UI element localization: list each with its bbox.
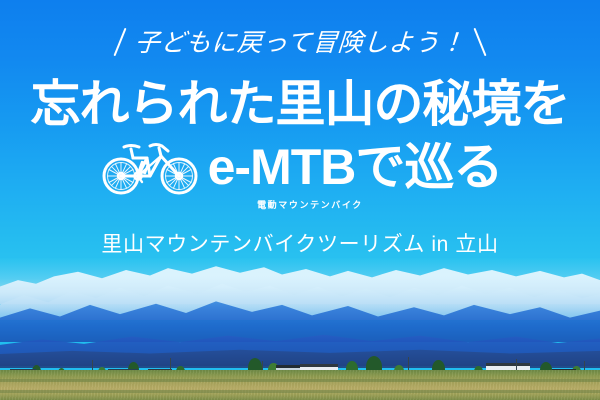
promo-banner: 子どもに戻って冒険しよう！ 忘れられた里山の秘境を: [0, 0, 600, 400]
headline-line-2: e-MTBで巡る: [208, 141, 503, 193]
banner-subtitle: 里山マウンテンバイクツーリズム in 立山: [0, 228, 600, 258]
field-furrow: [0, 390, 600, 393]
slash-left-decoration: [113, 28, 126, 57]
field-furrow: [0, 379, 600, 382]
kicker-text: 子どもに戻って冒険しよう！: [134, 30, 466, 55]
banner-text-content: 子どもに戻って冒険しよう！ 忘れられた里山の秘境を: [0, 0, 600, 272]
headline-line-2-row: e-MTBで巡る: [0, 138, 600, 196]
field-texture: [0, 370, 600, 400]
headline-line-1: 忘れられた里山の秘境を: [0, 78, 600, 130]
slash-right-decoration: [474, 28, 487, 57]
rice-field-foreground: [0, 370, 600, 400]
kicker-line: 子どもに戻って冒険しよう！: [0, 27, 600, 57]
mountain-bike-icon: [98, 138, 202, 196]
mountain-landscape-photo: [0, 258, 600, 400]
ruby-annotation: 電動マウンテンバイク: [10, 198, 600, 211]
